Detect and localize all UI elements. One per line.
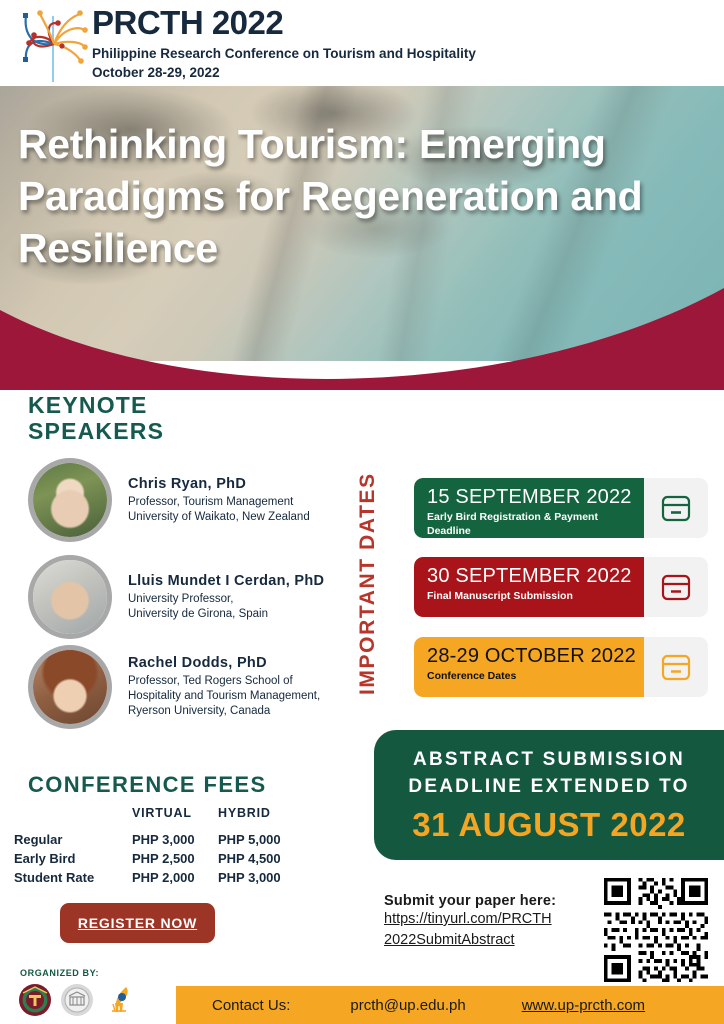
submit-paper-block: Submit your paper here: https://tinyurl.…	[384, 893, 594, 951]
fees-col-hybrid: HYBRID	[218, 806, 304, 830]
speaker-card: Rachel Dodds, PhD Professor, Ted Rogers …	[28, 645, 320, 729]
fees-col-virtual: VIRTUAL	[132, 806, 218, 830]
calendar-card-icon	[644, 478, 708, 538]
fee-row-label: Student Rate	[14, 868, 132, 887]
submit-url-line1[interactable]: https://tinyurl.com/PRCTH	[384, 909, 594, 930]
fees-header-row: VIRTUAL HYBRID	[14, 806, 304, 830]
affiliation-line: Professor, Tourism Management	[128, 495, 310, 510]
brand-title: PRCTH 2022	[92, 4, 476, 42]
date-card-description: Early Bird Registration & Payment Deadli…	[427, 510, 644, 538]
speaker-card: Chris Ryan, PhD Professor, Tourism Manag…	[28, 458, 310, 542]
fee-virtual-value: PHP 2,500	[132, 849, 218, 868]
speaker-photo	[33, 463, 107, 537]
brand-dates: October 28-29, 2022	[92, 63, 476, 82]
speaker-info: Rachel Dodds, PhD Professor, Ted Rogers …	[128, 655, 320, 719]
orange-bird-logo-icon	[102, 983, 136, 1022]
organized-by-label: ORGANIZED BY:	[20, 968, 99, 978]
fees-col-blank	[14, 806, 132, 830]
speaker-card: Lluis Mundet I Cerdan, PhD University Pr…	[28, 555, 324, 639]
fee-hybrid-value: PHP 5,000	[218, 830, 304, 849]
keynote-heading-line2: SPEAKERS	[28, 418, 164, 444]
fee-virtual-value: PHP 2,000	[132, 868, 218, 887]
abstract-submission-banner: ABSTRACT SUBMISSION DEADLINE EXTENDED TO…	[374, 730, 724, 860]
date-card-date: 15 SEPTEMBER 2022	[427, 485, 644, 509]
avatar	[28, 645, 112, 729]
register-now-button[interactable]: REGISTER NOW	[60, 903, 215, 943]
date-card-bar: 28-29 OCTOBER 2022 Conference Dates	[414, 637, 644, 697]
date-card-bar: 30 SEPTEMBER 2022 Final Manuscript Submi…	[414, 557, 644, 617]
speaker-photo	[33, 560, 107, 634]
calendar-card-icon	[644, 637, 708, 697]
fee-row-label: Regular	[14, 830, 132, 849]
submit-paper-label: Submit your paper here:	[384, 893, 594, 909]
speaker-info: Chris Ryan, PhD Professor, Tourism Manag…	[128, 476, 310, 525]
important-date-card: 30 SEPTEMBER 2022 Final Manuscript Submi…	[414, 557, 708, 617]
footer-contact-bar: Contact Us: prcth@up.edu.ph www.up-prcth…	[176, 986, 724, 1024]
conference-fees-table: VIRTUAL HYBRID Regular PHP 3,000 PHP 5,0…	[14, 806, 304, 887]
table-row: Student Rate PHP 2,000 PHP 3,000	[14, 868, 304, 887]
conference-fees-heading: CONFERENCE FEES	[28, 772, 267, 798]
abstract-banner-line1: ABSTRACT SUBMISSION	[374, 746, 724, 773]
keynote-speakers-heading: KEYNOTE SPEAKERS	[28, 392, 164, 444]
important-date-card: 15 SEPTEMBER 2022 Early Bird Registratio…	[414, 478, 708, 538]
speaker-affiliation: Professor, Ted Rogers School of Hospital…	[128, 674, 320, 719]
speaker-name: Rachel Dodds, PhD	[128, 655, 320, 671]
date-card-bar: 15 SEPTEMBER 2022 Early Bird Registratio…	[414, 478, 644, 538]
speaker-name: Lluis Mundet I Cerdan, PhD	[128, 573, 324, 589]
avatar	[28, 555, 112, 639]
avatar	[28, 458, 112, 542]
fee-hybrid-value: PHP 4,500	[218, 849, 304, 868]
contact-website[interactable]: www.up-prcth.com	[522, 997, 645, 1014]
speaker-photo	[33, 650, 107, 724]
calendar-card-icon	[644, 557, 708, 617]
affiliation-line: University of Waikato, New Zealand	[128, 510, 310, 525]
submit-url-line2[interactable]: 2022SubmitAbstract	[384, 930, 594, 951]
affiliation-line: University Professor,	[128, 592, 324, 607]
maroon-curve-divider	[0, 280, 724, 390]
contact-email[interactable]: prcth@up.edu.ph	[350, 997, 465, 1014]
hero-title: Rethinking Tourism: Emerging Paradigms f…	[18, 118, 708, 274]
affiliation-line: University de Girona, Spain	[128, 607, 324, 622]
fee-hybrid-value: PHP 3,000	[218, 868, 304, 887]
qr-code-icon[interactable]	[600, 874, 712, 986]
header-text-block: PRCTH 2022 Philippine Research Conferenc…	[92, 4, 476, 82]
speaker-name: Chris Ryan, PhD	[128, 476, 310, 492]
speaker-info: Lluis Mundet I Cerdan, PhD University Pr…	[128, 573, 324, 622]
table-row: Early Bird PHP 2,500 PHP 4,500	[14, 849, 304, 868]
important-date-card: 28-29 OCTOBER 2022 Conference Dates	[414, 637, 708, 697]
fee-virtual-value: PHP 3,000	[132, 830, 218, 849]
organizer-logos	[18, 983, 136, 1022]
table-row: Regular PHP 3,000 PHP 5,000	[14, 830, 304, 849]
date-card-description: Conference Dates	[427, 669, 644, 683]
prcth-swirl-logo-icon	[14, 2, 92, 84]
abstract-banner-line2: DEADLINE EXTENDED TO	[374, 773, 724, 800]
abstract-deadline-date: 31 AUGUST 2022	[374, 804, 724, 846]
fee-row-label: Early Bird	[14, 849, 132, 868]
date-card-description: Final Manuscript Submission	[427, 589, 644, 603]
gray-institution-seal-icon	[60, 983, 94, 1022]
affiliation-line: Professor, Ted Rogers School of	[128, 674, 320, 689]
keynote-heading-line1: KEYNOTE	[28, 392, 164, 418]
up-seal-logo-icon	[18, 983, 52, 1022]
affiliation-line: Ryerson University, Canada	[128, 704, 320, 719]
contact-us-label: Contact Us:	[212, 997, 290, 1014]
poster-header: PRCTH 2022 Philippine Research Conferenc…	[0, 0, 724, 86]
brand-subtitle: Philippine Research Conference on Touris…	[92, 44, 476, 63]
speaker-affiliation: Professor, Tourism Management University…	[128, 495, 310, 525]
date-card-date: 28-29 OCTOBER 2022	[427, 644, 644, 668]
important-dates-label: IMPORTANT DATES	[356, 455, 386, 695]
affiliation-line: Hospitality and Tourism Management,	[128, 689, 320, 704]
date-card-date: 30 SEPTEMBER 2022	[427, 564, 644, 588]
speaker-affiliation: University Professor, University de Giro…	[128, 592, 324, 622]
